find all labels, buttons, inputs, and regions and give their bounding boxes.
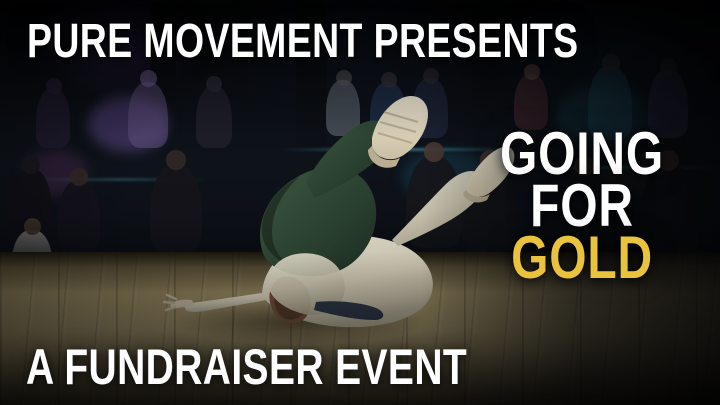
poster-canvas: PURE MOVEMENT PRESENTS GOING FOR GOLD A … [0,0,720,405]
title-block: GOING FOR GOLD [462,128,702,284]
dancer-left-fingers [164,295,176,310]
title-line-gold: GOLD [486,232,678,284]
